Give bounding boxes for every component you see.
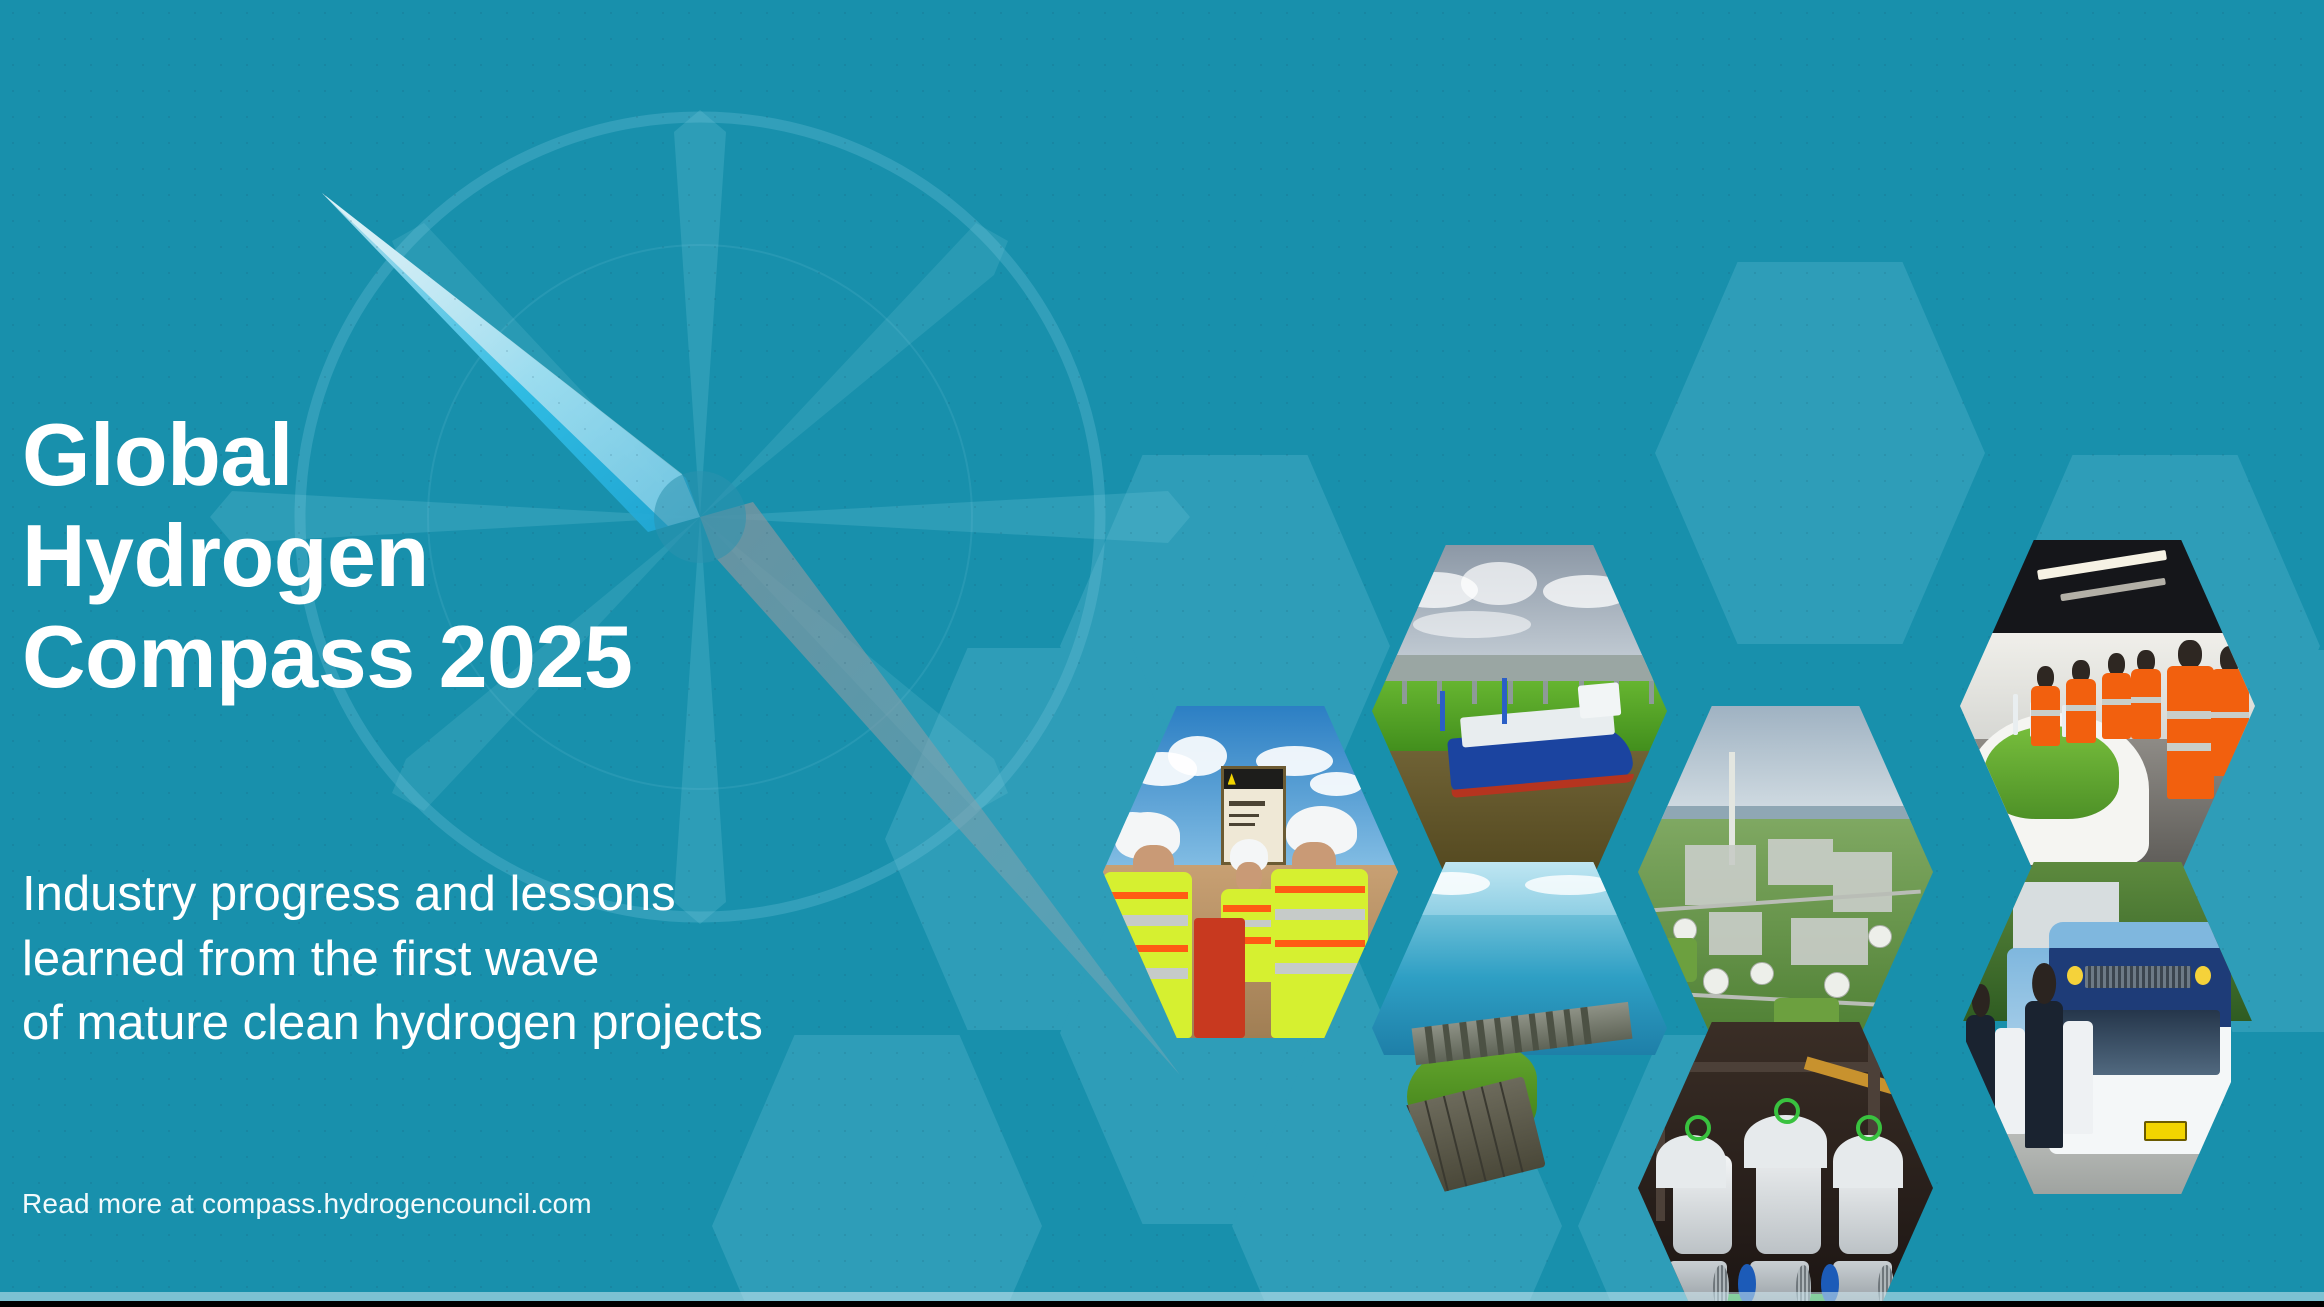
- subtitle-line-2: learned from the first wave: [22, 927, 763, 992]
- title-line-1: Global: [22, 404, 632, 505]
- bottom-highlight-strip: [0, 1292, 2324, 1301]
- title-line-2: Hydrogen: [22, 505, 632, 606]
- title-line-3: Compass 2025: [22, 606, 632, 707]
- bg-hex-bottom-left: [712, 1035, 1042, 1307]
- page-title: Global Hydrogen Compass 2025: [22, 404, 632, 708]
- subtitle-line-3: of mature clean hydrogen projects: [22, 991, 763, 1056]
- bg-hex-upper-right: [1655, 262, 1985, 644]
- subtitle: Industry progress and lessons learned fr…: [22, 862, 763, 1056]
- read-more-link[interactable]: Read more at compass.hydrogencouncil.com: [22, 1188, 592, 1220]
- cover-banner: Global Hydrogen Compass 2025 Industry pr…: [0, 0, 2324, 1307]
- bottom-black-rule: [0, 1301, 2324, 1307]
- subtitle-line-1: Industry progress and lessons: [22, 862, 763, 927]
- headline-block: Global Hydrogen Compass 2025: [22, 404, 632, 708]
